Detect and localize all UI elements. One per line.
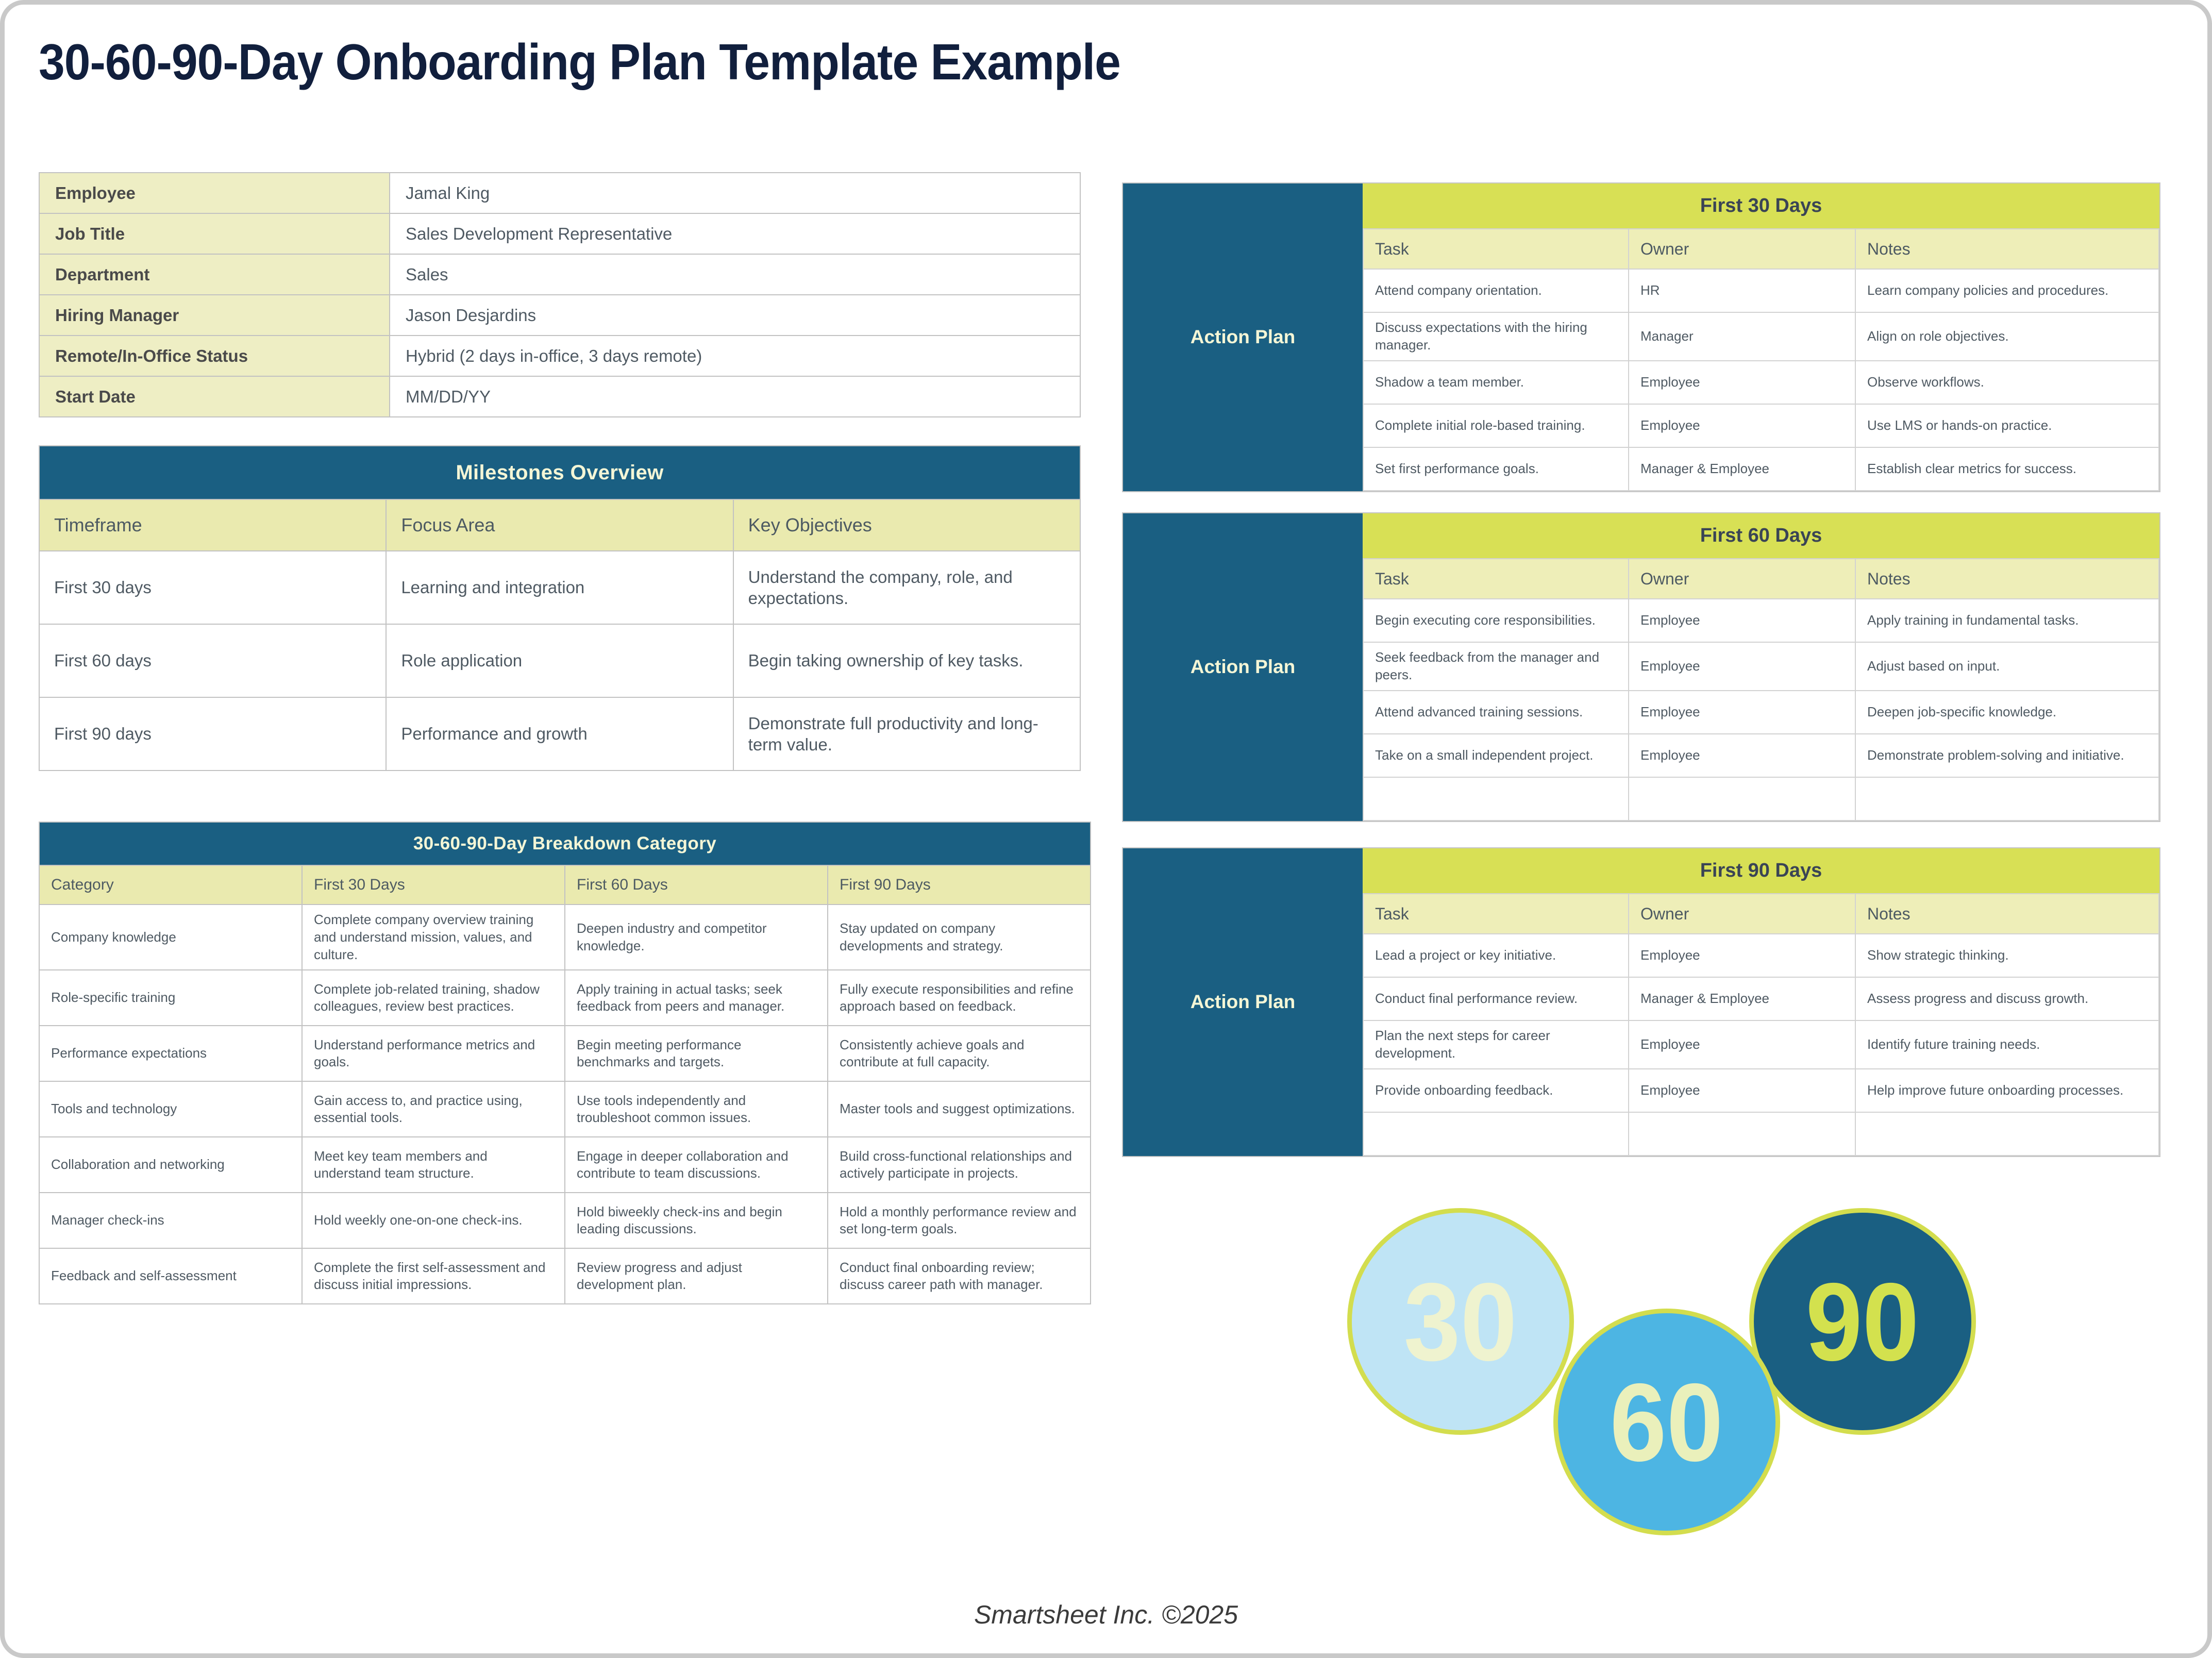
breakdown-30: Hold weekly one-on-one check-ins. [302,1193,565,1248]
milestone-focus: Role application [386,624,733,697]
action-plan-notes[interactable]: Establish clear metrics for success. [1855,447,2159,491]
breakdown-col-90: First 90 Days [828,865,1091,905]
action-plan-notes[interactable]: Apply training in fundamental tasks. [1855,599,2159,642]
action-plan-row: Set first performance goals.Manager & Em… [1363,447,2159,491]
breakdown-category: Feedback and self-assessment [39,1248,302,1304]
action-plan-header-row: TaskOwnerNotes [1363,559,2159,599]
action-plan-task[interactable]: Provide onboarding feedback. [1363,1069,1629,1112]
milestones-table: Milestones Overview Timeframe Focus Area… [39,445,1081,771]
action-plan-owner[interactable]: Employee [1629,691,1855,734]
action-plan-owner[interactable]: Employee [1629,599,1855,642]
milestones-col-timeframe: Timeframe [39,499,386,551]
employee-info-row: EmployeeJamal King [39,173,1080,213]
milestone-focus: Performance and growth [386,697,733,771]
breakdown-row: Manager check-insHold weekly one-on-one … [39,1193,1091,1248]
action-plan-task[interactable]: Lead a project or key initiative. [1363,934,1629,977]
breakdown-90: Master tools and suggest optimizations. [828,1081,1091,1137]
employee-info-row: Start DateMM/DD/YY [39,376,1080,417]
circles-graphic: 30 90 60 [1347,1208,1981,1543]
action-plan-90-block: Action PlanFirst 90 DaysTaskOwnerNotesLe… [1122,847,2160,1157]
document-page: 30-60-90-Day Onboarding Plan Template Ex… [0,0,2212,1658]
action-plan-owner[interactable]: Manager [1629,312,1855,361]
breakdown-60: Deepen industry and competitor knowledge… [565,905,828,970]
action-plan-task[interactable] [1363,1112,1629,1155]
milestones-col-objectives: Key Objectives [733,499,1080,551]
employee-info-row: Remote/In-Office StatusHybrid (2 days in… [39,336,1080,376]
action-plan-row: Attend company orientation.HRLearn compa… [1363,269,2159,312]
action-plan-task[interactable]: Seek feedback from the manager and peers… [1363,642,1629,691]
milestones-block: Milestones Overview Timeframe Focus Area… [39,445,1081,771]
employee-info-label: Job Title [39,213,390,254]
action-plan-owner[interactable]: HR [1629,269,1855,312]
breakdown-30: Complete company overview training and u… [302,905,565,970]
breakdown-90: Fully execute responsibilities and refin… [828,970,1091,1026]
employee-info-label: Remote/In-Office Status [39,336,390,376]
action-plan-col-owner: Owner [1629,894,1855,934]
action-plan-owner[interactable]: Employee [1629,404,1855,447]
action-plan-task[interactable] [1363,777,1629,820]
action-plan-task[interactable]: Conduct final performance review. [1363,977,1629,1020]
action-plan-owner[interactable]: Employee [1629,934,1855,977]
action-plan-notes[interactable] [1855,777,2159,820]
footer-copyright: Smartsheet Inc. ©2025 [5,1600,2207,1630]
action-plan-task[interactable]: Attend company orientation. [1363,269,1629,312]
action-plan-row: Seek feedback from the manager and peers… [1363,642,2159,691]
action-plan-content: First 30 DaysTaskOwnerNotesAttend compan… [1363,183,2159,491]
circle-30-label: 30 [1404,1266,1517,1377]
milestones-row: First 60 daysRole applicationBegin takin… [39,624,1080,697]
milestones-row: First 30 daysLearning and integrationUnd… [39,551,1080,624]
action-plan-row: Begin executing core responsibilities.Em… [1363,599,2159,642]
breakdown-90: Stay updated on company developments and… [828,905,1091,970]
action-plan-task[interactable]: Take on a small independent project. [1363,734,1629,777]
employee-info-value[interactable]: Sales Development Representative [390,213,1080,254]
action-plan-30-block: Action PlanFirst 30 DaysTaskOwnerNotesAt… [1122,182,2160,492]
action-plan-notes[interactable]: Learn company policies and procedures. [1855,269,2159,312]
milestones-row: First 90 daysPerformance and growthDemon… [39,697,1080,771]
action-plan-notes[interactable] [1855,1112,2159,1155]
action-plan-row: Plan the next steps for career developme… [1363,1020,2159,1069]
action-plan-row: Complete initial role-based training.Emp… [1363,404,2159,447]
breakdown-col-category: Category [39,865,302,905]
breakdown-60: Engage in deeper collaboration and contr… [565,1137,828,1193]
breakdown-category: Role-specific training [39,970,302,1026]
action-plan-title: First 30 Days [1363,183,2159,228]
action-plan-notes[interactable]: Observe workflows. [1855,361,2159,404]
milestone-objective: Demonstrate full productivity and long-t… [733,697,1080,771]
employee-info-block: EmployeeJamal KingJob TitleSales Develop… [39,172,1081,417]
breakdown-90: Conduct final onboarding review; discuss… [828,1248,1091,1304]
breakdown-60: Hold biweekly check-ins and begin leadin… [565,1193,828,1248]
employee-info-label: Start Date [39,376,390,417]
action-plan-owner[interactable]: Manager & Employee [1629,447,1855,491]
employee-info-label: Department [39,254,390,295]
breakdown-90: Consistently achieve goals and contribut… [828,1026,1091,1081]
breakdown-category: Manager check-ins [39,1193,302,1248]
milestone-timeframe: First 90 days [39,697,386,771]
action-plan-owner[interactable]: Manager & Employee [1629,977,1855,1020]
action-plan-notes[interactable]: Align on role objectives. [1855,312,2159,361]
action-plan-notes[interactable]: Adjust based on input. [1855,642,2159,691]
action-plan-task[interactable]: Begin executing core responsibilities. [1363,599,1629,642]
action-plan-row: Conduct final performance review.Manager… [1363,977,2159,1020]
action-plan-header-row: TaskOwnerNotes [1363,894,2159,934]
milestones-header-row: Timeframe Focus Area Key Objectives [39,499,1080,551]
action-plan-header-row: TaskOwnerNotes [1363,229,2159,269]
action-plan-col-owner: Owner [1629,559,1855,599]
breakdown-60: Apply training in actual tasks; seek fee… [565,970,828,1026]
employee-info-label: Employee [39,173,390,213]
breakdown-row: Feedback and self-assessmentComplete the… [39,1248,1091,1304]
breakdown-30: Complete the first self-assessment and d… [302,1248,565,1304]
breakdown-30: Gain access to, and practice using, esse… [302,1081,565,1137]
circle-90: 90 [1749,1208,1976,1435]
milestone-timeframe: First 30 days [39,551,386,624]
action-plan-side-label: Action Plan [1123,513,1363,821]
action-plan-owner[interactable]: Employee [1629,1020,1855,1069]
action-plan-notes[interactable]: Use LMS or hands-on practice. [1855,404,2159,447]
action-plan-row: Lead a project or key initiative.Employe… [1363,934,2159,977]
employee-info-row: DepartmentSales [39,254,1080,295]
employee-info-row: Hiring ManagerJason Desjardins [39,295,1080,336]
breakdown-30: Complete job-related training, shadow co… [302,970,565,1026]
milestone-focus: Learning and integration [386,551,733,624]
action-plan-60-block: Action PlanFirst 60 DaysTaskOwnerNotesBe… [1122,512,2160,822]
employee-info-row: Job TitleSales Development Representativ… [39,213,1080,254]
action-plan-title: First 60 Days [1363,513,2159,558]
breakdown-30: Meet key team members and understand tea… [302,1137,565,1193]
circle-90-label: 90 [1806,1266,1919,1377]
breakdown-table: 30-60-90-Day Breakdown Category Category… [39,822,1091,1304]
action-plan-table: TaskOwnerNotesBegin executing core respo… [1363,558,2159,821]
breakdown-row: Company knowledgeComplete company overvi… [39,905,1091,970]
action-plan-notes[interactable]: Deepen job-specific knowledge. [1855,691,2159,734]
action-plan-task[interactable]: Discuss expectations with the hiring man… [1363,312,1629,361]
breakdown-row: Tools and technologyGain access to, and … [39,1081,1091,1137]
action-plan-notes[interactable]: Help improve future onboarding processes… [1855,1069,2159,1112]
employee-info-value[interactable]: MM/DD/YY [390,376,1080,417]
action-plan-owner[interactable] [1629,777,1855,820]
action-plan-row: Discuss expectations with the hiring man… [1363,312,2159,361]
employee-info-label: Hiring Manager [39,295,390,336]
action-plan-notes[interactable]: Identify future training needs. [1855,1020,2159,1069]
action-plan-col-notes: Notes [1855,894,2159,934]
breakdown-category: Performance expectations [39,1026,302,1081]
employee-info-value[interactable]: Sales [390,254,1080,295]
employee-info-table: EmployeeJamal KingJob TitleSales Develop… [39,172,1081,417]
milestone-timeframe: First 60 days [39,624,386,697]
breakdown-60: Use tools independently and troubleshoot… [565,1081,828,1137]
action-plan-task[interactable]: Plan the next steps for career developme… [1363,1020,1629,1069]
action-plan-row: Provide onboarding feedback.EmployeeHelp… [1363,1069,2159,1112]
action-plan-col-notes: Notes [1855,559,2159,599]
action-plan-owner[interactable]: Employee [1629,361,1855,404]
action-plan-notes[interactable]: Demonstrate problem-solving and initiati… [1855,734,2159,777]
action-plan-col-owner: Owner [1629,229,1855,269]
action-plan-col-task: Task [1363,559,1629,599]
breakdown-90: Build cross-functional relationships and… [828,1137,1091,1193]
action-plan-owner[interactable] [1629,1112,1855,1155]
breakdown-60: Review progress and adjust development p… [565,1248,828,1304]
breakdown-block: 30-60-90-Day Breakdown Category Category… [39,822,1091,1304]
employee-info-value[interactable]: Hybrid (2 days in-office, 3 days remote) [390,336,1080,376]
action-plan-row: Take on a small independent project.Empl… [1363,734,2159,777]
action-plan-row [1363,777,2159,820]
breakdown-col-30: First 30 Days [302,865,565,905]
breakdown-col-60: First 60 Days [565,865,828,905]
action-plan-table: TaskOwnerNotesLead a project or key init… [1363,893,2159,1156]
action-plan-row: Shadow a team member.EmployeeObserve wor… [1363,361,2159,404]
breakdown-category: Tools and technology [39,1081,302,1137]
breakdown-row: Collaboration and networkingMeet key tea… [39,1137,1091,1193]
action-plan-col-task: Task [1363,229,1629,269]
action-plan-owner[interactable]: Employee [1629,642,1855,691]
breakdown-30: Understand performance metrics and goals… [302,1026,565,1081]
action-plan-content: First 90 DaysTaskOwnerNotesLead a projec… [1363,848,2159,1156]
action-plan-row [1363,1112,2159,1155]
milestone-objective: Begin taking ownership of key tasks. [733,624,1080,697]
action-plan-content: First 60 DaysTaskOwnerNotesBegin executi… [1363,513,2159,821]
circle-30: 30 [1347,1208,1574,1435]
breakdown-60: Begin meeting performance benchmarks and… [565,1026,828,1081]
action-plan-task[interactable]: Complete initial role-based training. [1363,404,1629,447]
page-title: 30-60-90-Day Onboarding Plan Template Ex… [39,33,1120,91]
action-plan-owner[interactable]: Employee [1629,734,1855,777]
action-plan-task[interactable]: Attend advanced training sessions. [1363,691,1629,734]
action-plan-side-label: Action Plan [1123,183,1363,491]
action-plan-task[interactable]: Shadow a team member. [1363,361,1629,404]
breakdown-category: Collaboration and networking [39,1137,302,1193]
circle-60-label: 60 [1610,1367,1723,1478]
action-plan-notes[interactable]: Assess progress and discuss growth. [1855,977,2159,1020]
action-plan-row: Attend advanced training sessions.Employ… [1363,691,2159,734]
action-plan-table: TaskOwnerNotesAttend company orientation… [1363,228,2159,491]
action-plan-title: First 90 Days [1363,848,2159,893]
breakdown-header-row: Category First 30 Days First 60 Days Fir… [39,865,1091,905]
employee-info-value[interactable]: Jason Desjardins [390,295,1080,336]
breakdown-90: Hold a monthly performance review and se… [828,1193,1091,1248]
action-plan-owner[interactable]: Employee [1629,1069,1855,1112]
circle-60: 60 [1553,1309,1780,1535]
action-plan-side-label: Action Plan [1123,848,1363,1156]
milestone-objective: Understand the company, role, and expect… [733,551,1080,624]
action-plan-task[interactable]: Set first performance goals. [1363,447,1629,491]
milestones-col-focus: Focus Area [386,499,733,551]
breakdown-row: Performance expectationsUnderstand perfo… [39,1026,1091,1081]
breakdown-row: Role-specific trainingComplete job-relat… [39,970,1091,1026]
action-plan-notes[interactable]: Show strategic thinking. [1855,934,2159,977]
action-plan-col-notes: Notes [1855,229,2159,269]
employee-info-value[interactable]: Jamal King [390,173,1080,213]
milestones-banner: Milestones Overview [39,446,1080,499]
breakdown-banner: 30-60-90-Day Breakdown Category [39,822,1091,865]
action-plan-col-task: Task [1363,894,1629,934]
breakdown-category: Company knowledge [39,905,302,970]
